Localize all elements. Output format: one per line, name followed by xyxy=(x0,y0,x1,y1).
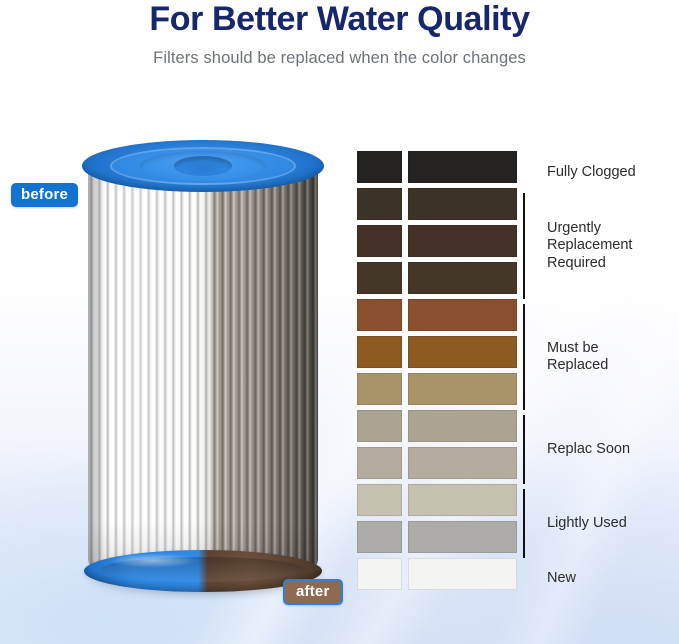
color-swatch-wide xyxy=(408,484,517,516)
color-swatch-small xyxy=(357,225,402,257)
color-swatch-small xyxy=(357,558,402,590)
color-scale-row xyxy=(357,336,517,368)
legend-group: Urgently Replacement Required xyxy=(523,193,632,299)
color-scale-row xyxy=(357,447,517,479)
legend-group: Fully Clogged xyxy=(523,157,636,189)
legend-label: Must be Replaced xyxy=(525,340,608,374)
color-swatch-small xyxy=(357,262,402,294)
color-scale-row xyxy=(357,299,517,331)
color-scale-row xyxy=(357,373,517,405)
legend-group: Must be Replaced xyxy=(523,304,608,410)
color-swatch-wide xyxy=(408,225,517,257)
color-scale-row xyxy=(357,484,517,516)
page-title: For Better Water Quality xyxy=(0,2,679,38)
color-swatch-small xyxy=(357,484,402,516)
color-scale xyxy=(357,151,517,595)
color-swatch-small xyxy=(357,151,402,183)
color-swatch-small xyxy=(357,299,402,331)
color-swatch-wide xyxy=(408,558,517,590)
color-scale-row xyxy=(357,262,517,294)
header: For Better Water Quality Filters should … xyxy=(0,0,679,68)
color-swatch-wide xyxy=(408,262,517,294)
color-swatch-small xyxy=(357,410,402,442)
filter-bottom-cap-highlight xyxy=(108,553,198,567)
legend-label: New xyxy=(525,570,576,587)
color-swatch-small xyxy=(357,373,402,405)
legend-label: Urgently Replacement Required xyxy=(525,220,632,271)
color-scale-row xyxy=(357,521,517,553)
color-swatch-wide xyxy=(408,447,517,479)
page-subtitle: Filters should be replaced when the colo… xyxy=(0,49,679,68)
badge-before: before xyxy=(11,183,78,207)
legend-label: Lightly Used xyxy=(525,515,627,532)
legend-label: Fully Clogged xyxy=(525,164,636,181)
color-scale-row xyxy=(357,558,517,590)
filter-cartridge-image xyxy=(76,140,331,598)
color-scale-row xyxy=(357,151,517,183)
color-swatch-small xyxy=(357,188,402,220)
color-scale-row xyxy=(357,225,517,257)
legend-group: Lightly Used xyxy=(523,489,627,558)
color-scale-row xyxy=(357,410,517,442)
color-swatch-small xyxy=(357,521,402,553)
infographic-root: For Better Water Quality Filters should … xyxy=(0,0,679,644)
color-swatch-wide xyxy=(408,521,517,553)
color-swatch-small xyxy=(357,447,402,479)
filter-cap-center-hole xyxy=(174,156,232,176)
color-scale-legend: Fully CloggedUrgently Replacement Requir… xyxy=(523,151,679,601)
color-swatch-wide xyxy=(408,151,517,183)
color-swatch-small xyxy=(357,336,402,368)
color-scale-row xyxy=(357,188,517,220)
filter-cylinder-shading xyxy=(88,164,318,568)
filter-pleated-body xyxy=(88,164,318,568)
badge-after: after xyxy=(283,579,343,605)
legend-group: Replac Soon xyxy=(523,415,630,484)
legend-group: New xyxy=(523,563,576,595)
legend-label: Replac Soon xyxy=(525,441,630,458)
color-swatch-wide xyxy=(408,336,517,368)
color-swatch-wide xyxy=(408,410,517,442)
color-swatch-wide xyxy=(408,188,517,220)
color-swatch-wide xyxy=(408,373,517,405)
filter-top-cap xyxy=(82,140,324,192)
color-swatch-wide xyxy=(408,299,517,331)
